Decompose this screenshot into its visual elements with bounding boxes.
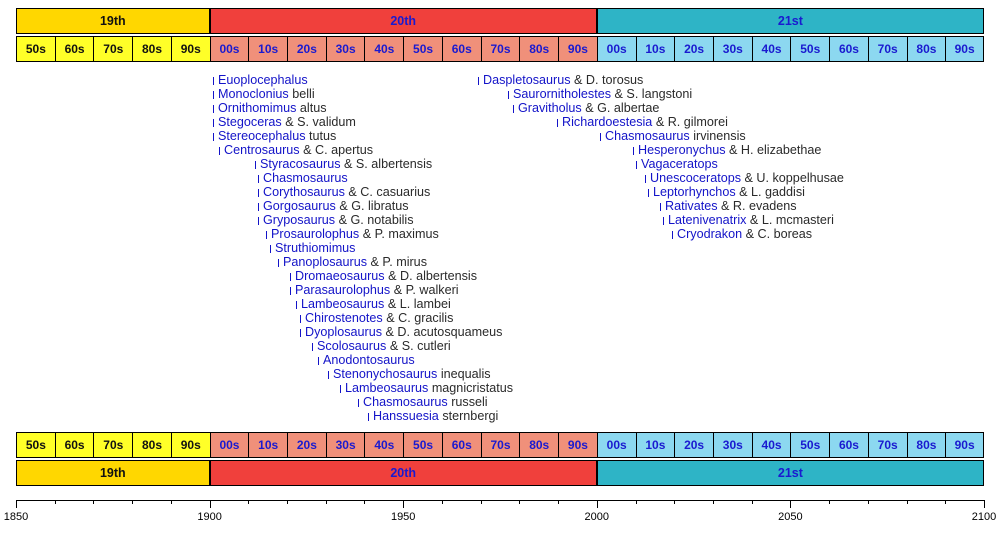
species-entry[interactable]: Stenonychosaurus inequalis bbox=[328, 368, 491, 380]
species-entry[interactable]: Leptorhynchos & L. gaddisi bbox=[648, 186, 805, 198]
axis-minor-tick bbox=[636, 500, 637, 504]
axis-major-tick bbox=[16, 500, 17, 508]
entry-tick-icon bbox=[290, 273, 291, 281]
decade-cell-1870[interactable]: 70s bbox=[93, 36, 132, 62]
entry-tick-icon bbox=[290, 287, 291, 295]
species-name: & L. mcmasteri bbox=[750, 213, 834, 227]
species-entry[interactable]: Dyoplosaurus & D. acutosquameus bbox=[300, 326, 502, 338]
decade-cell-2040[interactable]: 40s bbox=[752, 432, 791, 458]
species-name: altus bbox=[300, 101, 327, 115]
genus-name: Saurornitholestes bbox=[513, 87, 611, 101]
entry-tick-icon bbox=[508, 91, 509, 99]
species-entry[interactable]: Saurornitholestes & S. langstoni bbox=[508, 88, 692, 100]
axis-major-tick bbox=[790, 500, 791, 508]
genus-name: Chirostenotes bbox=[305, 311, 383, 325]
entry-tick-icon bbox=[258, 203, 259, 211]
species-name: & R. gilmorei bbox=[656, 115, 728, 129]
genus-name: Lambeosaurus bbox=[301, 297, 384, 311]
axis-tick-label: 2000 bbox=[585, 511, 609, 523]
axis-minor-tick bbox=[364, 500, 365, 504]
genus-name: Stegoceras bbox=[218, 115, 282, 129]
entry-tick-icon bbox=[296, 301, 297, 309]
species-entry[interactable]: Chirostenotes & C. gracilis bbox=[300, 312, 453, 324]
century-label: 19th bbox=[100, 467, 126, 480]
decade-cell-1900[interactable]: 00s bbox=[210, 36, 249, 62]
species-entry[interactable]: Daspletosaurus & D. torosus bbox=[478, 74, 643, 86]
decade-cell-1940[interactable]: 40s bbox=[364, 36, 403, 62]
genus-name: Panoplosaurus bbox=[283, 255, 367, 269]
genus-name: Scolosaurus bbox=[317, 339, 386, 353]
century-label: 20th bbox=[390, 15, 416, 28]
decade-label: 60s bbox=[839, 43, 859, 55]
century-label: 19th bbox=[100, 15, 126, 28]
decade-cell-2020[interactable]: 20s bbox=[674, 432, 713, 458]
genus-name: Daspletosaurus bbox=[483, 73, 571, 87]
decade-label: 90s bbox=[955, 439, 975, 451]
species-name: & D. torosus bbox=[574, 73, 643, 87]
entry-tick-icon bbox=[258, 175, 259, 183]
species-entry[interactable]: Anodontosaurus bbox=[318, 354, 415, 366]
decade-cell-1850[interactable]: 50s bbox=[16, 432, 55, 458]
decade-label: 70s bbox=[103, 43, 123, 55]
decade-cell-2050[interactable]: 50s bbox=[790, 36, 829, 62]
axis-minor-tick bbox=[287, 500, 288, 504]
decade-label: 30s bbox=[723, 43, 743, 55]
decade-cell-1990[interactable]: 90s bbox=[558, 432, 597, 458]
decade-label: 20s bbox=[684, 439, 704, 451]
axis-tick-label: 2100 bbox=[972, 511, 996, 523]
genus-name: Prosaurolophus bbox=[271, 227, 359, 241]
genus-name: Chasmosaurus bbox=[363, 395, 448, 409]
species-entry[interactable]: Vagaceratops bbox=[636, 158, 718, 170]
decade-cell-1930[interactable]: 30s bbox=[326, 432, 365, 458]
decade-label: 60s bbox=[65, 439, 85, 451]
species-entry[interactable]: Gorgosaurus & G. libratus bbox=[258, 200, 409, 212]
decade-cell-2070[interactable]: 70s bbox=[868, 432, 907, 458]
species-name: & L. gaddisi bbox=[739, 185, 805, 199]
genus-name: Stenonychosaurus bbox=[333, 367, 437, 381]
century-segment-19th[interactable]: 19th bbox=[16, 8, 210, 34]
axis-line bbox=[16, 500, 984, 501]
bottom-century-bar: 19th20th21st bbox=[0, 460, 1000, 486]
genus-name: Styracosaurus bbox=[260, 157, 341, 171]
decade-cell-2040[interactable]: 40s bbox=[752, 36, 791, 62]
species-name: & C. gracilis bbox=[386, 311, 453, 325]
decade-label: 00s bbox=[219, 439, 239, 451]
genus-name: Chasmosaurus bbox=[263, 171, 348, 185]
axis-minor-tick bbox=[713, 500, 714, 504]
species-entry[interactable]: Struthiomimus bbox=[270, 242, 355, 254]
top-century-bar: 19th20th21st bbox=[0, 8, 1000, 34]
species-name: tutus bbox=[309, 129, 336, 143]
decade-cell-2070[interactable]: 70s bbox=[868, 36, 907, 62]
genus-name: Anodontosaurus bbox=[323, 353, 415, 367]
decade-label: 50s bbox=[800, 43, 820, 55]
decade-cell-2090[interactable]: 90s bbox=[945, 36, 984, 62]
decade-cell-1980[interactable]: 80s bbox=[519, 432, 558, 458]
entry-tick-icon bbox=[636, 161, 637, 169]
species-entry[interactable]: Stereocephalus tutus bbox=[213, 130, 336, 142]
decade-cell-1940[interactable]: 40s bbox=[364, 432, 403, 458]
decade-label: 90s bbox=[568, 439, 588, 451]
century-segment-20th[interactable]: 20th bbox=[210, 8, 597, 34]
axis-minor-tick bbox=[519, 500, 520, 504]
species-name: belli bbox=[292, 87, 314, 101]
decade-label: 50s bbox=[26, 439, 46, 451]
entry-tick-icon bbox=[513, 105, 514, 113]
species-entry[interactable]: Lambeosaurus & L. lambei bbox=[296, 298, 451, 310]
species-entry[interactable]: Rativates & R. evadens bbox=[660, 200, 797, 212]
decade-cell-1860[interactable]: 60s bbox=[55, 432, 94, 458]
decade-cell-1890[interactable]: 90s bbox=[171, 36, 210, 62]
decade-label: 70s bbox=[878, 439, 898, 451]
decade-label: 50s bbox=[26, 43, 46, 55]
species-entry[interactable]: Dromaeosaurus & D. albertensis bbox=[290, 270, 477, 282]
entry-tick-icon bbox=[358, 399, 359, 407]
axis-major-tick bbox=[984, 500, 985, 508]
decade-label: 60s bbox=[452, 439, 472, 451]
genus-name: Rativates bbox=[665, 199, 718, 213]
decade-label: 30s bbox=[336, 43, 356, 55]
entry-tick-icon bbox=[213, 105, 214, 113]
century-label: 21st bbox=[778, 15, 803, 28]
axis-minor-tick bbox=[752, 500, 753, 504]
century-segment-20th[interactable]: 20th bbox=[210, 460, 597, 486]
species-entry[interactable]: Hesperonychus & H. elizabethae bbox=[633, 144, 821, 156]
species-entry[interactable]: Stegoceras & S. validum bbox=[213, 116, 356, 128]
decade-label: 70s bbox=[878, 43, 898, 55]
entry-tick-icon bbox=[368, 413, 369, 421]
axis-minor-tick bbox=[674, 500, 675, 504]
decade-label: 60s bbox=[839, 439, 859, 451]
decade-label: 30s bbox=[336, 439, 356, 451]
decade-cell-2050[interactable]: 50s bbox=[790, 432, 829, 458]
entry-tick-icon bbox=[300, 315, 301, 323]
species-entry[interactable]: Styracosaurus & S. albertensis bbox=[255, 158, 432, 170]
entry-tick-icon bbox=[328, 371, 329, 379]
genus-name: Ornithomimus bbox=[218, 101, 296, 115]
species-entry[interactable]: Cryodrakon & C. boreas bbox=[672, 228, 812, 240]
genus-name: Leptorhynchos bbox=[653, 185, 736, 199]
axis-minor-tick bbox=[558, 500, 559, 504]
species-name: magnicristatus bbox=[432, 381, 513, 395]
genus-name: Gravitholus bbox=[518, 101, 582, 115]
decade-label: 90s bbox=[568, 43, 588, 55]
genus-name: Hesperonychus bbox=[638, 143, 726, 157]
species-entry[interactable]: Corythosaurus & C. casuarius bbox=[258, 186, 430, 198]
decade-cell-2000[interactable]: 00s bbox=[597, 36, 636, 62]
decade-cell-2060[interactable]: 60s bbox=[829, 36, 868, 62]
entry-tick-icon bbox=[648, 189, 649, 197]
species-name: & H. elizabethae bbox=[729, 143, 821, 157]
genus-name: Richardoestesia bbox=[562, 115, 652, 129]
decade-cell-2060[interactable]: 60s bbox=[829, 432, 868, 458]
species-name: & S. albertensis bbox=[344, 157, 432, 171]
entry-tick-icon bbox=[213, 77, 214, 85]
entry-tick-icon bbox=[213, 133, 214, 141]
decade-label: 80s bbox=[529, 439, 549, 451]
decade-label: 40s bbox=[762, 43, 782, 55]
species-name: & G. libratus bbox=[339, 199, 408, 213]
genus-name: Gorgosaurus bbox=[263, 199, 336, 213]
species-name: & S. cutleri bbox=[390, 339, 451, 353]
entry-tick-icon bbox=[318, 357, 319, 365]
decade-label: 90s bbox=[955, 43, 975, 55]
species-entry[interactable]: Gryposaurus & G. notabilis bbox=[258, 214, 414, 226]
genus-name: Unescoceratops bbox=[650, 171, 741, 185]
entry-tick-icon bbox=[312, 343, 313, 351]
genus-name: Centrosaurus bbox=[224, 143, 300, 157]
decade-label: 90s bbox=[181, 439, 201, 451]
entry-tick-icon bbox=[278, 259, 279, 267]
entry-tick-icon bbox=[660, 203, 661, 211]
entry-tick-icon bbox=[258, 217, 259, 225]
entry-tick-icon bbox=[557, 119, 558, 127]
genus-name: Stereocephalus bbox=[218, 129, 306, 143]
species-name: & P. mirus bbox=[371, 255, 427, 269]
decade-label: 30s bbox=[723, 439, 743, 451]
species-entry[interactable]: Prosaurolophus & P. maximus bbox=[266, 228, 439, 240]
decade-cell-1880[interactable]: 80s bbox=[132, 36, 171, 62]
axis-minor-tick bbox=[248, 500, 249, 504]
species-name: irvinensis bbox=[693, 129, 746, 143]
species-name: & U. koppelhusae bbox=[745, 171, 844, 185]
decade-label: 10s bbox=[645, 43, 665, 55]
decade-label: 20s bbox=[297, 43, 317, 55]
entry-tick-icon bbox=[478, 77, 479, 85]
decade-cell-1860[interactable]: 60s bbox=[55, 36, 94, 62]
species-entry[interactable]: Monoclonius belli bbox=[213, 88, 315, 100]
decade-cell-1910[interactable]: 10s bbox=[248, 432, 287, 458]
species-entry[interactable]: Chasmosaurus russeli bbox=[358, 396, 488, 408]
entry-tick-icon bbox=[270, 245, 271, 253]
decade-cell-2010[interactable]: 10s bbox=[636, 36, 675, 62]
decade-label: 50s bbox=[413, 439, 433, 451]
axis-major-tick bbox=[210, 500, 211, 508]
species-entry[interactable]: Panoplosaurus & P. mirus bbox=[278, 256, 427, 268]
decade-cell-2030[interactable]: 30s bbox=[713, 36, 752, 62]
species-name: & D. albertensis bbox=[388, 269, 477, 283]
species-name: & C. casuarius bbox=[348, 185, 430, 199]
genus-name: Dyoplosaurus bbox=[305, 325, 382, 339]
decade-label: 20s bbox=[297, 439, 317, 451]
decade-label: 10s bbox=[258, 439, 278, 451]
decade-cell-2080[interactable]: 80s bbox=[907, 36, 946, 62]
decade-cell-1920[interactable]: 20s bbox=[287, 432, 326, 458]
bottom-decade-bar: 50s60s70s80s90s00s10s20s30s40s50s60s70s8… bbox=[0, 432, 1000, 458]
genus-name: Hanssuesia bbox=[373, 409, 439, 423]
axis-minor-tick bbox=[868, 500, 869, 504]
entry-tick-icon bbox=[672, 231, 673, 239]
species-entry[interactable]: Hanssuesia sternbergi bbox=[368, 410, 498, 422]
genus-name: Struthiomimus bbox=[275, 241, 355, 255]
decade-label: 50s bbox=[413, 43, 433, 55]
genus-name: Vagaceratops bbox=[641, 157, 718, 171]
decade-cell-1950[interactable]: 50s bbox=[403, 36, 442, 62]
axis-minor-tick bbox=[326, 500, 327, 504]
species-name: & G. albertae bbox=[585, 101, 659, 115]
axis-minor-tick bbox=[907, 500, 908, 504]
top-decade-bar: 50s60s70s80s90s00s10s20s30s40s50s60s70s8… bbox=[0, 36, 1000, 62]
genus-name: Dromaeosaurus bbox=[295, 269, 385, 283]
genus-name: Parasaurolophus bbox=[295, 283, 390, 297]
species-entry[interactable]: Gravitholus & G. albertae bbox=[513, 102, 659, 114]
decade-cell-2000[interactable]: 00s bbox=[597, 432, 636, 458]
decade-cell-2080[interactable]: 80s bbox=[907, 432, 946, 458]
entry-tick-icon bbox=[300, 329, 301, 337]
axis-tick-label: 1950 bbox=[391, 511, 415, 523]
decade-cell-1930[interactable]: 30s bbox=[326, 36, 365, 62]
genus-name: Lambeosaurus bbox=[345, 381, 428, 395]
species-entry[interactable]: Lambeosaurus magnicristatus bbox=[340, 382, 513, 394]
species-name: & D. acutosquameus bbox=[386, 325, 503, 339]
decade-label: 60s bbox=[65, 43, 85, 55]
axis-minor-tick bbox=[481, 500, 482, 504]
axis-tick-label: 2050 bbox=[778, 511, 802, 523]
decade-label: 40s bbox=[374, 43, 394, 55]
species-entry[interactable]: Chasmosaurus irvinensis bbox=[600, 130, 746, 142]
species-entry[interactable]: Unescoceratops & U. koppelhusae bbox=[645, 172, 844, 184]
decade-label: 20s bbox=[684, 43, 704, 55]
decade-label: 80s bbox=[142, 439, 162, 451]
timeline-chart: 19th20th21st 50s60s70s80s90s00s10s20s30s… bbox=[0, 0, 1000, 540]
decade-label: 80s bbox=[916, 43, 936, 55]
decade-cell-2020[interactable]: 20s bbox=[674, 36, 713, 62]
species-name: inequalis bbox=[441, 367, 491, 381]
species-name: & S. langstoni bbox=[615, 87, 693, 101]
century-label: 21st bbox=[778, 467, 803, 480]
decade-cell-1920[interactable]: 20s bbox=[287, 36, 326, 62]
decade-label: 10s bbox=[645, 439, 665, 451]
entry-tick-icon bbox=[213, 119, 214, 127]
entry-tick-icon bbox=[255, 161, 256, 169]
decade-label: 80s bbox=[916, 439, 936, 451]
species-entry[interactable]: Euoplocephalus bbox=[213, 74, 308, 86]
species-entry[interactable]: Latenivenatrix & L. mcmasteri bbox=[663, 214, 834, 226]
decade-label: 40s bbox=[762, 439, 782, 451]
decade-label: 10s bbox=[258, 43, 278, 55]
axis-tick-label: 1850 bbox=[4, 511, 28, 523]
species-name: & P. walkeri bbox=[394, 283, 459, 297]
decade-cell-1960[interactable]: 60s bbox=[442, 36, 481, 62]
axis-major-tick bbox=[403, 500, 404, 508]
decade-cell-2030[interactable]: 30s bbox=[713, 432, 752, 458]
genus-name: Euoplocephalus bbox=[218, 73, 308, 87]
decade-cell-1880[interactable]: 80s bbox=[132, 432, 171, 458]
decade-cell-1970[interactable]: 70s bbox=[481, 36, 520, 62]
species-name: & S. validum bbox=[285, 115, 356, 129]
genus-name: Gryposaurus bbox=[263, 213, 335, 227]
species-name: & R. evadens bbox=[721, 199, 797, 213]
genus-name: Monoclonius bbox=[218, 87, 289, 101]
species-entry[interactable]: Scolosaurus & S. cutleri bbox=[312, 340, 451, 352]
axis-minor-tick bbox=[829, 500, 830, 504]
axis-minor-tick bbox=[93, 500, 94, 504]
axis-minor-tick bbox=[442, 500, 443, 504]
species-name: russeli bbox=[451, 395, 487, 409]
entry-tick-icon bbox=[340, 385, 341, 393]
decade-label: 00s bbox=[607, 439, 627, 451]
entry-tick-icon bbox=[645, 175, 646, 183]
decade-label: 90s bbox=[181, 43, 201, 55]
genus-name: Cryodrakon bbox=[677, 227, 742, 241]
decade-cell-1960[interactable]: 60s bbox=[442, 432, 481, 458]
decade-cell-1900[interactable]: 00s bbox=[210, 432, 249, 458]
species-entry[interactable]: Parasaurolophus & P. walkeri bbox=[290, 284, 459, 296]
axis-minor-tick bbox=[171, 500, 172, 504]
species-name: & C. apertus bbox=[303, 143, 373, 157]
species-entry[interactable]: Richardoestesia & R. gilmorei bbox=[557, 116, 728, 128]
species-name: sternbergi bbox=[442, 409, 498, 423]
decade-cell-1970[interactable]: 70s bbox=[481, 432, 520, 458]
entry-tick-icon bbox=[633, 147, 634, 155]
entry-tick-icon bbox=[663, 217, 664, 225]
decade-label: 80s bbox=[529, 43, 549, 55]
century-segment-21st[interactable]: 21st bbox=[597, 8, 984, 34]
century-segment-19th[interactable]: 19th bbox=[16, 460, 210, 486]
entry-tick-icon bbox=[600, 133, 601, 141]
decade-label: 70s bbox=[490, 43, 510, 55]
species-name: & C. boreas bbox=[746, 227, 813, 241]
entry-tick-icon bbox=[219, 147, 220, 155]
decade-cell-1990[interactable]: 90s bbox=[558, 36, 597, 62]
decade-label: 50s bbox=[800, 439, 820, 451]
genus-name: Corythosaurus bbox=[263, 185, 345, 199]
axis-minor-tick bbox=[132, 500, 133, 504]
species-name: & L. lambei bbox=[388, 297, 451, 311]
decade-cell-1980[interactable]: 80s bbox=[519, 36, 558, 62]
decade-label: 00s bbox=[219, 43, 239, 55]
axis-major-tick bbox=[597, 500, 598, 508]
decade-cell-1870[interactable]: 70s bbox=[93, 432, 132, 458]
decade-label: 00s bbox=[607, 43, 627, 55]
century-segment-21st[interactable]: 21st bbox=[597, 460, 984, 486]
species-entry[interactable]: Ornithomimus altus bbox=[213, 102, 327, 114]
entry-tick-icon bbox=[213, 91, 214, 99]
axis-tick-label: 1900 bbox=[197, 511, 221, 523]
species-entry[interactable]: Chasmosaurus bbox=[258, 172, 348, 184]
decade-label: 70s bbox=[103, 439, 123, 451]
decade-cell-1850[interactable]: 50s bbox=[16, 36, 55, 62]
species-entry[interactable]: Centrosaurus & C. apertus bbox=[219, 144, 373, 156]
genus-name: Latenivenatrix bbox=[668, 213, 746, 227]
decade-cell-1910[interactable]: 10s bbox=[248, 36, 287, 62]
genus-name: Chasmosaurus bbox=[605, 129, 690, 143]
decade-cell-2010[interactable]: 10s bbox=[636, 432, 675, 458]
decade-label: 60s bbox=[452, 43, 472, 55]
decade-label: 70s bbox=[490, 439, 510, 451]
decade-label: 40s bbox=[374, 439, 394, 451]
axis-minor-tick bbox=[55, 500, 56, 504]
entry-tick-icon bbox=[258, 189, 259, 197]
species-name: & G. notabilis bbox=[339, 213, 414, 227]
decade-cell-1890[interactable]: 90s bbox=[171, 432, 210, 458]
decade-cell-2090[interactable]: 90s bbox=[945, 432, 984, 458]
species-name: & P. maximus bbox=[363, 227, 439, 241]
decade-label: 80s bbox=[142, 43, 162, 55]
entry-tick-icon bbox=[266, 231, 267, 239]
axis-minor-tick bbox=[945, 500, 946, 504]
decade-cell-1950[interactable]: 50s bbox=[403, 432, 442, 458]
century-label: 20th bbox=[390, 467, 416, 480]
